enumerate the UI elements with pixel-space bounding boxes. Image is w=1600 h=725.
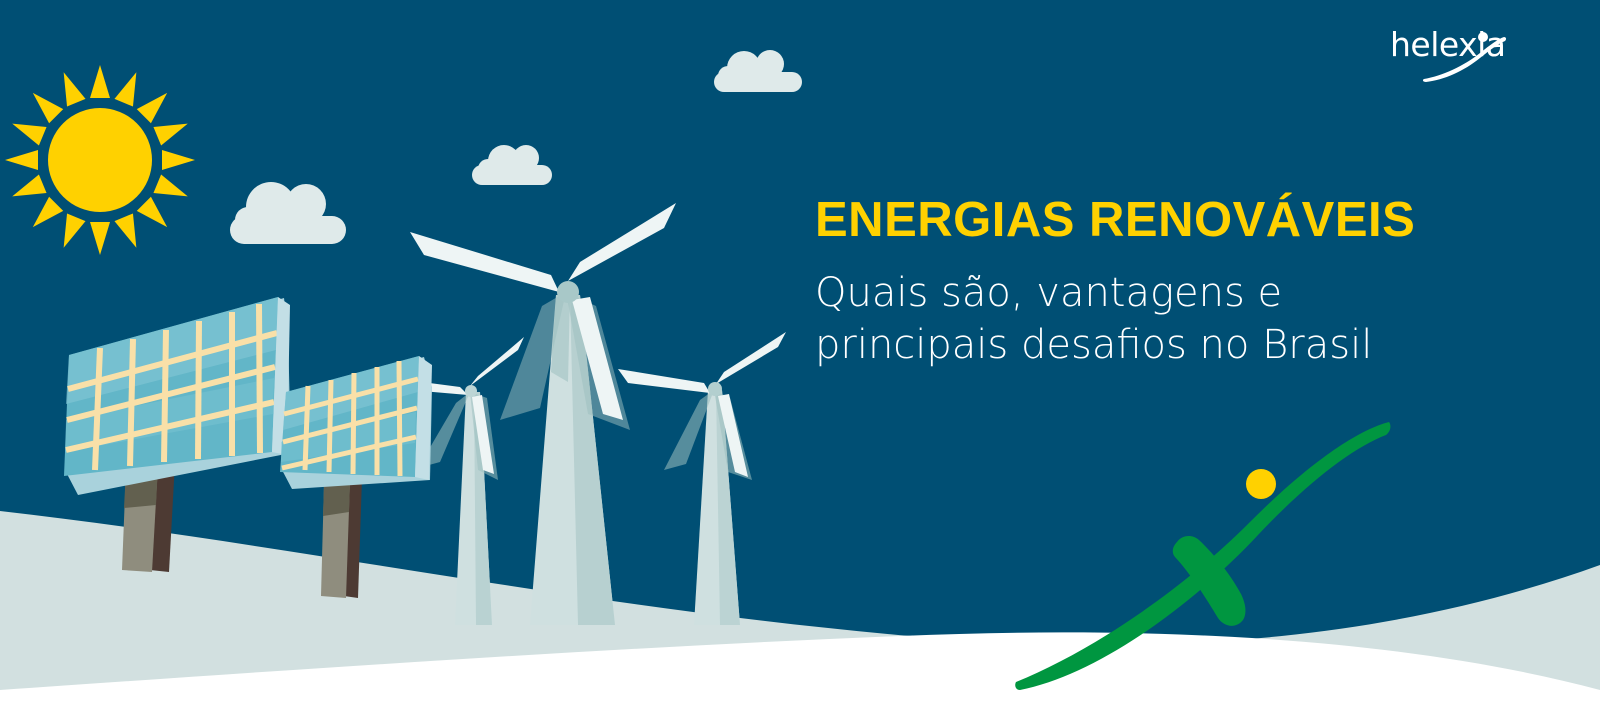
- brand-dot: [1246, 469, 1276, 499]
- page-title: ENERGIAS RENOVÁVEIS: [815, 195, 1515, 246]
- logo-swoosh-arc: [1423, 37, 1506, 82]
- turbine-hub: [708, 382, 722, 396]
- turbine-hub: [465, 385, 477, 397]
- logo-swoosh-dot: [1478, 32, 1488, 42]
- headline-block: ENERGIAS RENOVÁVEIS Quais são, vantagens…: [815, 195, 1515, 371]
- page-subtitle-line-1: Quais são, vantagens e: [815, 268, 1515, 319]
- turbine-hub: [557, 281, 579, 303]
- sun-icon: [5, 65, 195, 255]
- page-subtitle: Quais são, vantagens e principais desafi…: [815, 268, 1515, 370]
- logo-swoosh-icon: [1390, 28, 1508, 82]
- page-subtitle-line-2: principais desafios no Brasil: [815, 320, 1515, 371]
- sun-disc: [48, 108, 152, 212]
- helexia-logo[interactable]: helexia: [1390, 28, 1508, 82]
- renewable-energy-banner: ENERGIAS RENOVÁVEIS Quais são, vantagens…: [0, 0, 1600, 725]
